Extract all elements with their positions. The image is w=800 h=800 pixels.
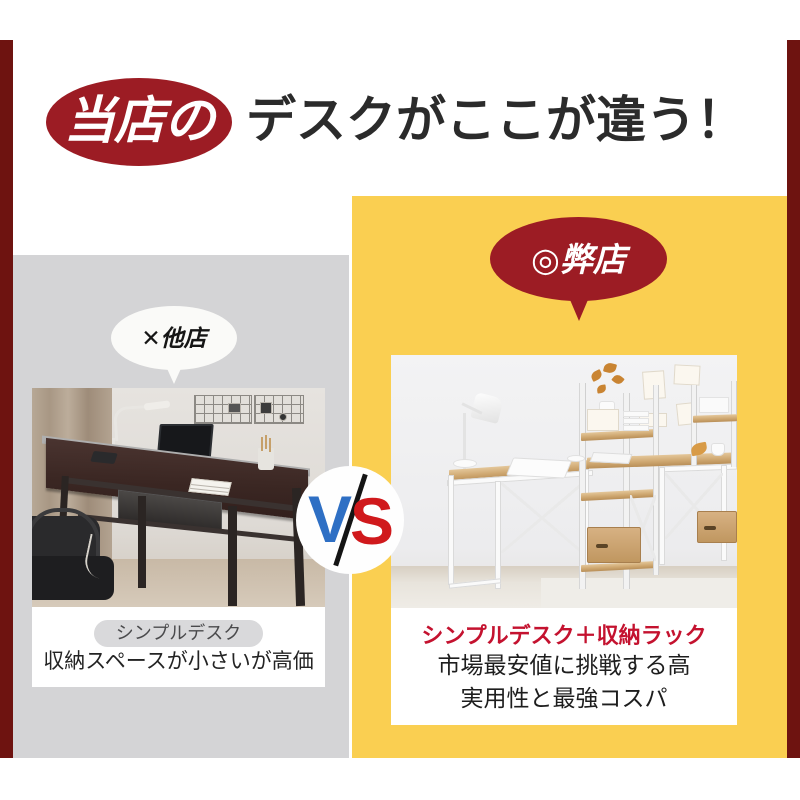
headline: 当店の デスクがここが違う！: [46, 72, 756, 172]
storage-basket: [587, 409, 619, 431]
storage-box: [697, 511, 737, 543]
ourstore-description-line-2: 実用性と最強コスパ: [461, 684, 668, 712]
box-handle-icon: [596, 544, 608, 548]
headline-badge: 当店の: [46, 78, 232, 166]
paper-stack: [699, 397, 729, 413]
rack-post: [579, 383, 586, 589]
headline-badge-label: 当店の: [64, 95, 214, 146]
desk-leg: [448, 475, 454, 585]
paper-stack: [623, 425, 649, 431]
left-border-stripe: [0, 40, 13, 758]
versus-badge: V S: [296, 466, 404, 574]
bubble-tail-icon: [568, 295, 590, 321]
pencil-icon: [265, 435, 267, 449]
desk-mouse: [567, 455, 585, 462]
competitor-desk-photo: [32, 388, 325, 607]
notebook-line: [190, 488, 228, 493]
desk-leg: [138, 496, 146, 588]
mug-icon: [711, 443, 725, 456]
paper-stack: [623, 418, 649, 424]
headline-text: デスクがここが違う！: [246, 95, 746, 145]
ourstore-speech-bubble: ◎弊店: [490, 217, 667, 301]
laptop-on-desk: [590, 452, 633, 464]
bubble-tail-icon: [165, 364, 183, 384]
wall-note-icon: [260, 402, 272, 414]
competitor-photo-card: [32, 388, 325, 607]
competitor-description: 収納スペースが小さいが高価: [43, 650, 313, 674]
laptop-on-desk: [506, 457, 572, 478]
desk-leg: [228, 506, 237, 606]
versus-letter-s: S: [350, 488, 394, 554]
pencil-icon: [261, 437, 263, 451]
competitor-product-tag: シンプルデスク: [94, 620, 263, 647]
competitor-speech-bubble: ✕他店: [111, 306, 237, 370]
ourstore-product-tag: シンプルデスク＋収納ラック: [421, 625, 706, 647]
desk-plate: [453, 459, 477, 468]
wall-mesh-board-icon: [194, 395, 252, 424]
right-border-stripe: [787, 40, 800, 758]
wall-note-icon: [279, 413, 287, 421]
promo-banner: 当店の デスクがここが違う！ ✕他店: [0, 0, 800, 800]
pencil-holder: [258, 448, 274, 470]
ourstore-caption: シンプルデスク＋収納ラック 市場最安値に挑戦する高 実用性と最強コスパ: [391, 608, 737, 725]
paper-stack: [623, 411, 649, 417]
box-handle-icon: [704, 526, 716, 530]
pencil-icon: [269, 438, 271, 452]
ourstore-description-line-1: 市場最安値に挑戦する高: [438, 651, 691, 679]
ourstore-photo-card: [391, 355, 737, 608]
ourstore-bubble-label: ◎弊店: [531, 243, 626, 276]
competitor-caption: シンプルデスク 収納スペースが小さいが高価: [32, 607, 325, 687]
storage-box: [587, 527, 641, 563]
rack-post: [731, 381, 737, 467]
competitor-bubble-label: ✕他店: [141, 327, 206, 350]
ourstore-desk-photo: [391, 355, 737, 608]
wall-photo-card: [673, 364, 700, 385]
desk-cross-brace: [501, 483, 583, 553]
photo-rug: [541, 578, 737, 608]
wall-note-icon: [228, 403, 241, 413]
